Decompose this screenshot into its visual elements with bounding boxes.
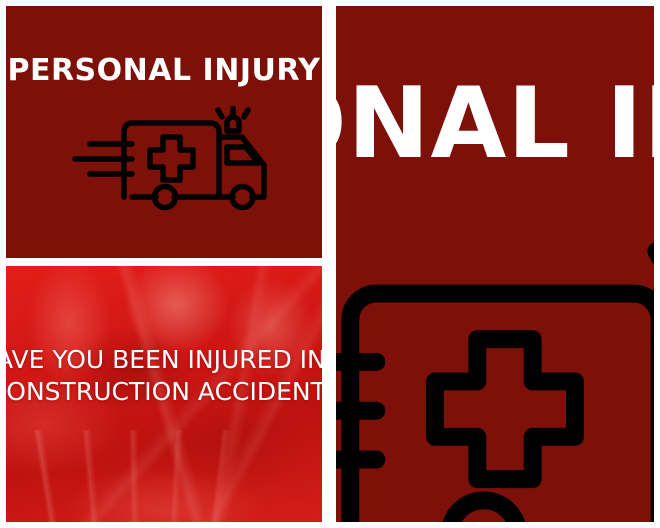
image-collage: PERSONAL INJURY (0, 0, 660, 528)
zoom-content: PERSONAL INJURY (336, 6, 654, 522)
construction-headline: HAVE YOU BEEN INJURED IN A CONSTRUCTION … (6, 344, 322, 408)
panel-personal-injury-card[interactable]: PERSONAL INJURY (6, 6, 322, 258)
personal-injury-title-zoomed: PERSONAL INJURY (336, 75, 654, 173)
panel-construction-accident-card[interactable]: HAVE YOU BEEN INJURED IN A CONSTRUCTION … (6, 266, 322, 522)
headline-line-1: HAVE YOU BEEN INJURED IN A (6, 344, 322, 376)
left-column: PERSONAL INJURY (6, 6, 322, 522)
personal-injury-title: PERSONAL INJURY (6, 56, 322, 86)
ambulance-icon (68, 106, 283, 214)
ambulance-icon (336, 238, 654, 522)
panel-personal-injury-zoom[interactable]: PERSONAL INJURY (336, 6, 654, 522)
headline-line-2: CONSTRUCTION ACCIDENT? (6, 376, 322, 408)
